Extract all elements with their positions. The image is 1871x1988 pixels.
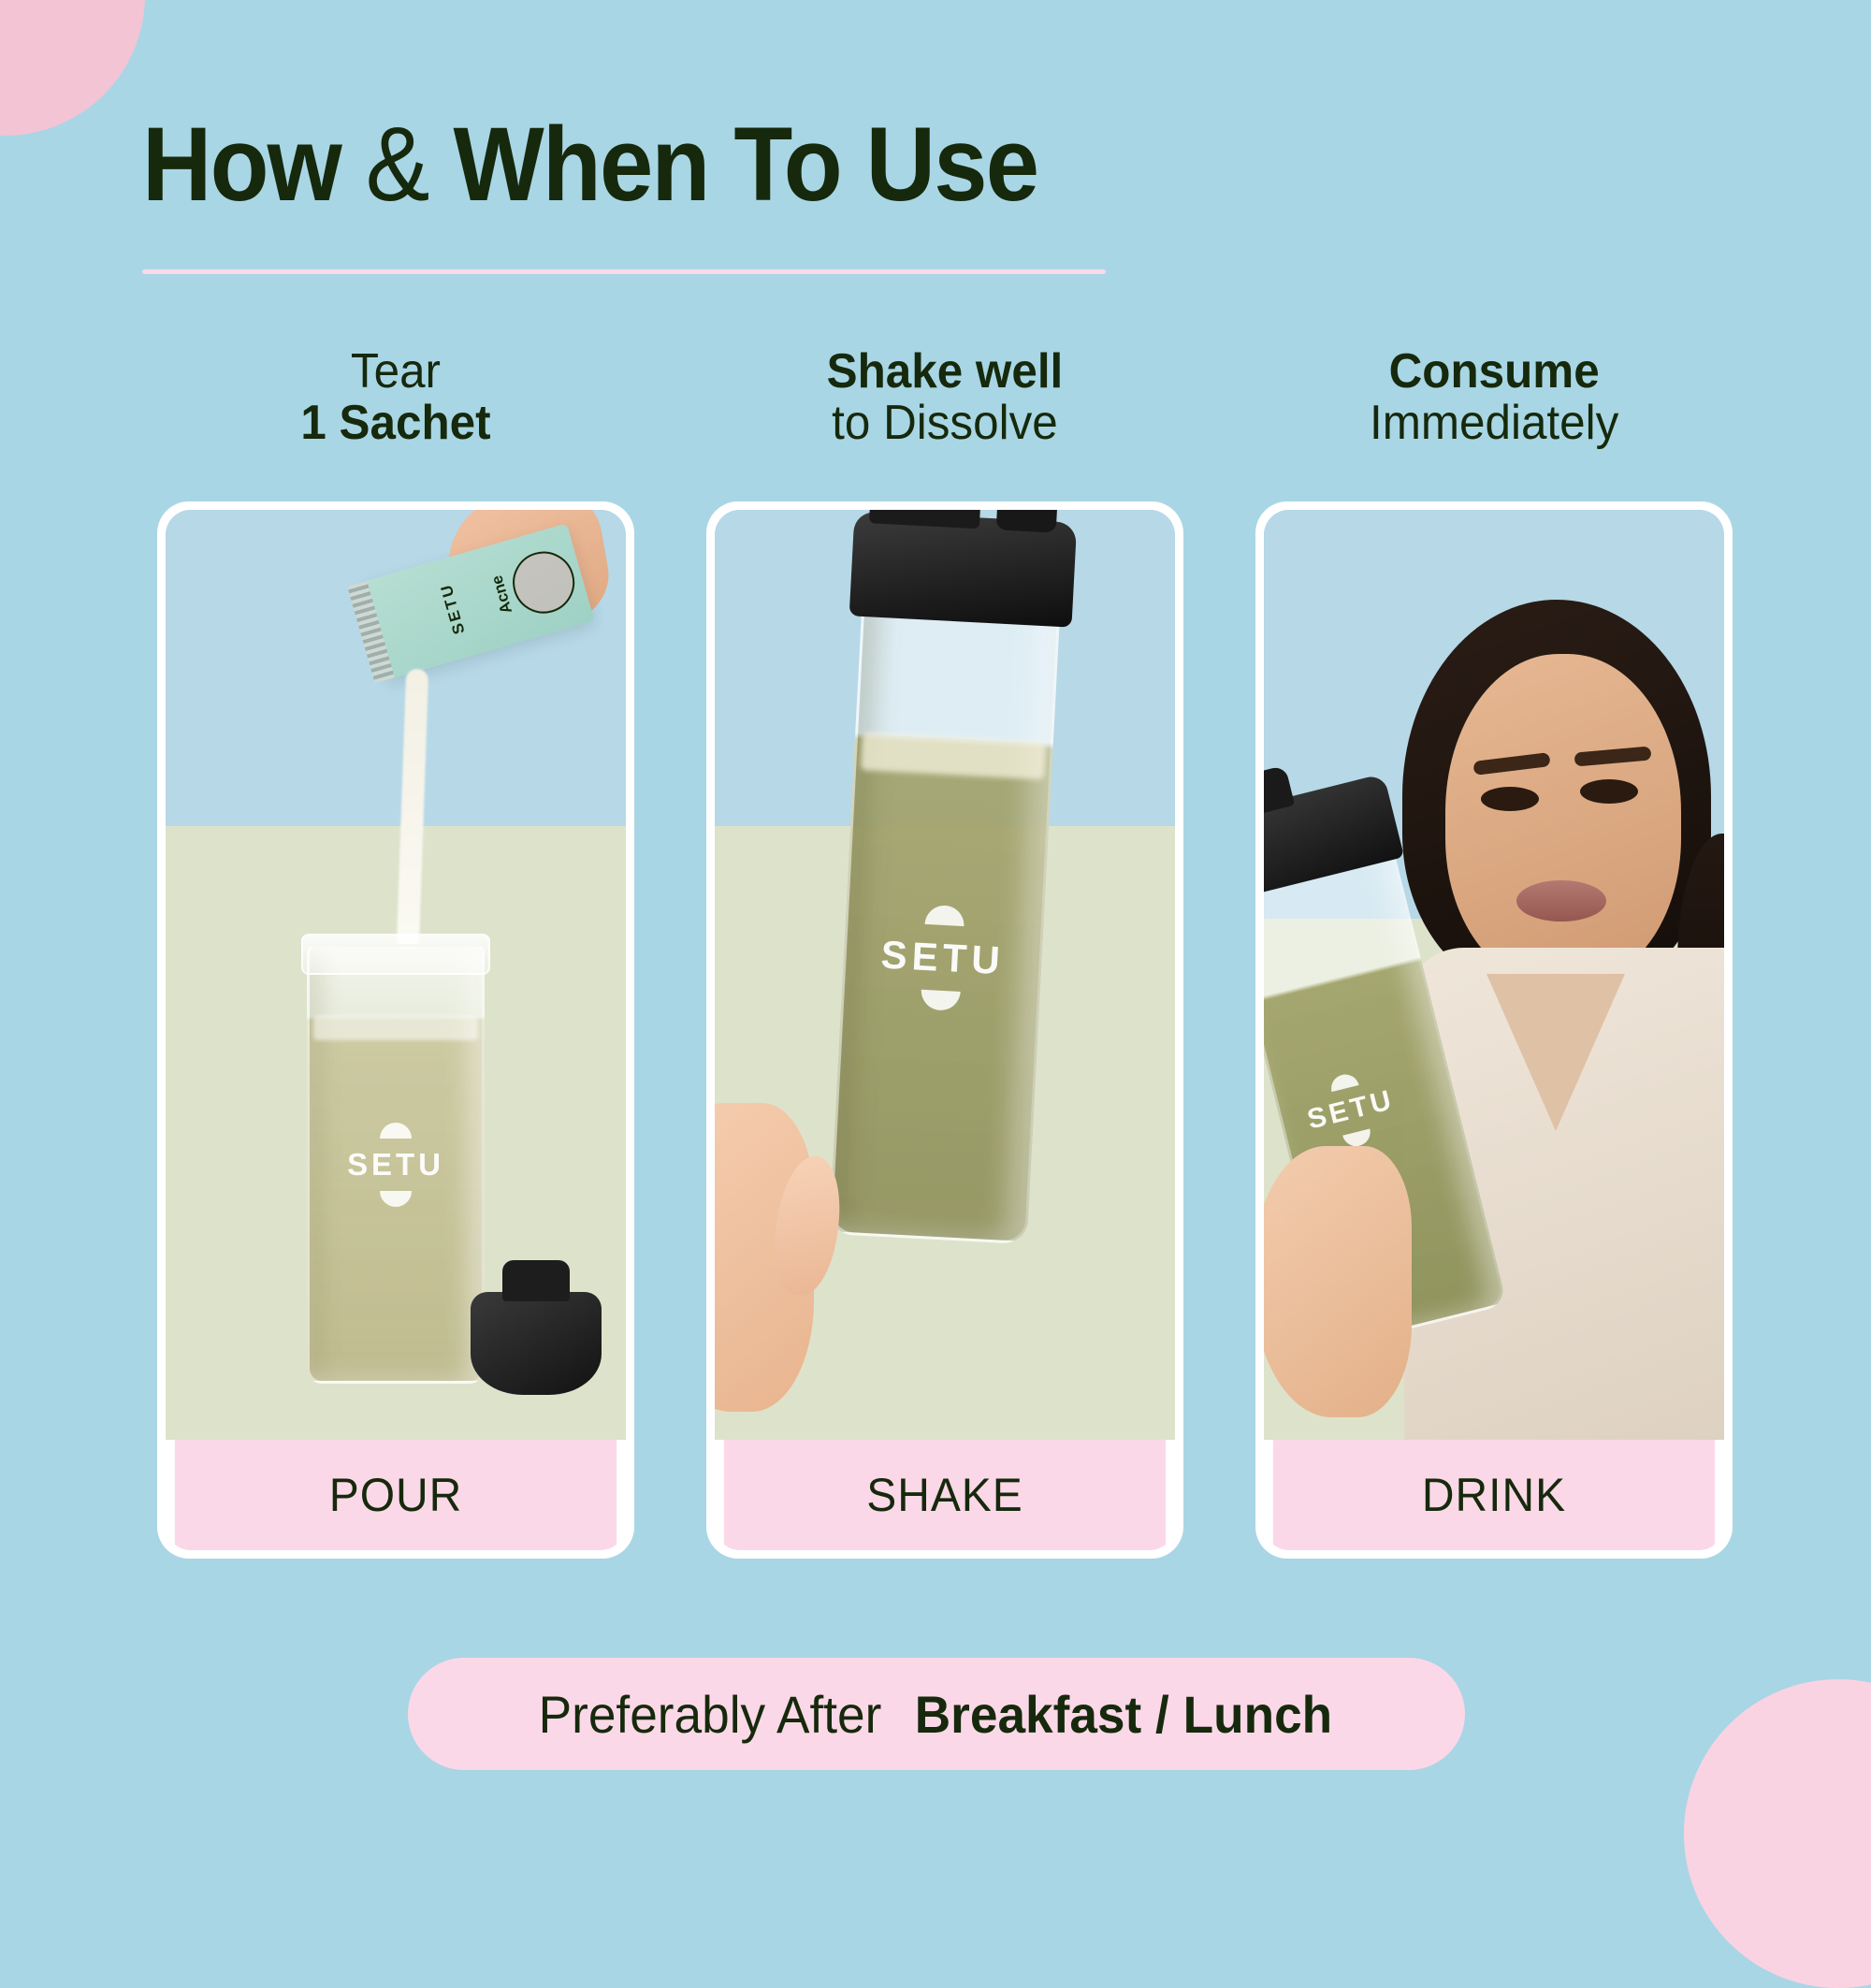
shaker-cup-neck xyxy=(301,934,490,975)
step-shake-card[interactable]: SETU SHAKE xyxy=(706,501,1183,1559)
step-drink-caption-line2: Immediately xyxy=(1370,398,1618,449)
setu-wordmark: SETU xyxy=(347,1147,444,1183)
step-shake: Shake well to Dissolve SETU xyxy=(706,346,1183,1559)
model-face xyxy=(1445,654,1681,983)
shaker-cup-foam xyxy=(313,1016,478,1040)
step-pour: Tear 1 Sachet SETU Acne xyxy=(157,346,634,1559)
steps-row: Tear 1 Sachet SETU Acne xyxy=(157,346,1733,1559)
step-pour-photo: SETU Acne SETU xyxy=(166,510,626,1440)
page-title: How & When To Use xyxy=(142,112,1020,217)
shaker-bottle-lid xyxy=(1264,774,1404,904)
page-title-part-2: When To Use xyxy=(453,106,1037,223)
step-drink-photo: SETU xyxy=(1264,510,1724,1440)
header: How & When To Use xyxy=(142,112,1096,274)
step-drink-label: DRINK xyxy=(1273,1440,1715,1550)
hand-holding-bottle xyxy=(1264,1146,1412,1417)
corner-blob-top-left xyxy=(0,0,145,136)
shaker-lid-beside-cup xyxy=(471,1292,602,1395)
page-title-part-1: How xyxy=(142,106,366,223)
step-pour-caption-line2: 1 Sachet xyxy=(300,398,490,449)
setu-arc-top-icon xyxy=(925,905,965,926)
step-pour-caption-line1: Tear xyxy=(300,346,490,398)
setu-logo-bottle: SETU xyxy=(1299,1065,1402,1157)
setu-logo-bottle: SETU xyxy=(878,903,1008,1014)
footer-timing-pill: Preferably After Breakfast / Lunch xyxy=(408,1658,1465,1770)
step-shake-caption-line2: to Dissolve xyxy=(827,398,1064,449)
model-eye-right xyxy=(1580,779,1638,804)
shaker-bottle: SETU xyxy=(829,589,1061,1244)
step-drink: Consume Immediately xyxy=(1255,346,1733,1559)
model-vneck xyxy=(1487,974,1625,1131)
step-shake-card-inner: SETU SHAKE xyxy=(715,510,1175,1550)
shaker-cup: SETU xyxy=(307,944,485,1384)
setu-arc-bottom-icon xyxy=(380,1191,412,1207)
step-pour-caption: Tear 1 Sachet xyxy=(296,346,496,486)
setu-wordmark: SETU xyxy=(1304,1084,1398,1137)
footer-text-bold: Breakfast / Lunch xyxy=(915,1684,1332,1745)
model-lips xyxy=(1516,880,1606,921)
model-eye-left xyxy=(1481,787,1539,811)
setu-arc-top-icon xyxy=(1328,1071,1359,1092)
sachet-brand-logo: SETU xyxy=(437,581,470,637)
step-drink-card-inner: SETU DRINK xyxy=(1264,510,1724,1550)
step-shake-caption-line1: Shake well xyxy=(827,346,1064,398)
step-shake-photo: SETU xyxy=(715,510,1175,1440)
step-drink-card[interactable]: SETU DRINK xyxy=(1255,501,1733,1559)
hand-holding-bottle xyxy=(715,1103,814,1412)
page-title-ampersand: & xyxy=(366,106,454,223)
shaker-bottle-lid xyxy=(849,511,1078,627)
setu-arc-top-icon xyxy=(380,1123,412,1139)
setu-logo-cup: SETU xyxy=(347,1123,444,1207)
setu-arc-bottom-icon xyxy=(921,990,961,1011)
title-divider xyxy=(142,269,1106,274)
step-drink-caption: Consume Immediately xyxy=(1363,346,1625,486)
step-pour-card-inner: SETU Acne SETU xyxy=(166,510,626,1550)
corner-blob-bottom-right xyxy=(1684,1679,1871,1988)
shaker-bottle-foam xyxy=(861,733,1046,779)
step-pour-card[interactable]: SETU Acne SETU xyxy=(157,501,634,1559)
sachet-badge-icon xyxy=(505,544,582,621)
step-shake-label: SHAKE xyxy=(724,1440,1166,1550)
step-pour-label: POUR xyxy=(175,1440,616,1550)
setu-wordmark: SETU xyxy=(879,933,1006,984)
step-drink-caption-line1: Consume xyxy=(1370,346,1618,398)
footer-text-regular: Preferably After xyxy=(539,1684,882,1745)
step-shake-caption: Shake well to Dissolve xyxy=(820,346,1069,486)
